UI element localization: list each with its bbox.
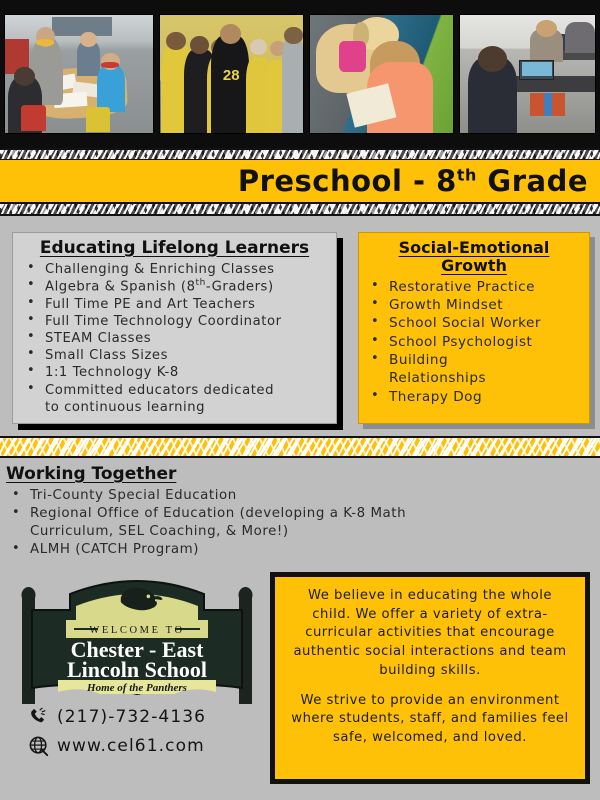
list-item: Committed educators dedicated [21,382,328,399]
algebra-pre: Algebra & Spanish (8 [45,280,196,295]
list-educating-items: Challenging & Enriching Classes Algebra … [21,261,328,416]
school-flyer: 28 P [0,0,600,800]
photo-classroom-small-group [4,14,154,134]
list-item: Full Time PE and Art Teachers [21,296,328,313]
page-title-main: Preschool - 8 [238,164,457,198]
contact-phone-number: (217)-732-4136 [57,707,206,727]
list-item-continuation: to continuous learning [21,399,328,416]
list-item: School Social Worker [365,314,583,332]
list-item: Building [365,351,583,369]
page-title: Preschool - 8th Grade [238,167,588,196]
list-item: ALMH (CATCH Program) [6,541,594,559]
card-title-social: Social-Emotional Growth [365,239,583,275]
contact-website-row[interactable]: www.cel61.com [28,735,268,757]
photo-students-laptops [459,14,596,134]
list-item: Algebra & Spanish (8th-Graders) [21,278,328,296]
list-item-continuation: Relationships [365,369,583,387]
list-item-continuation: Curriculum, SEL Coaching, & More!) [6,523,594,541]
contact-block: (217)-732-4136 www.cel61.com [28,706,268,764]
list-item: School Psychologist [365,333,583,351]
photo-strip: 28 [0,0,600,148]
section-title-working-together: Working Together [6,464,176,484]
sign-welcome-text: WELCOME TO [89,625,184,636]
school-sign: WELCOME TO Chester - East Lincoln School… [14,576,260,706]
globe-icon [28,735,50,757]
divider-scratch-under-title [0,202,600,216]
card-social-emotional-growth: Social-Emotional Growth Restorative Prac… [358,232,590,424]
photo-therapy-dog-reading [309,14,454,134]
photo-volleyball-team: 28 [159,14,304,134]
list-item: Therapy Dog [365,388,583,406]
contact-website-url: www.cel61.com [57,736,205,756]
mission-statement-box: We believe in educating the whole child.… [270,572,590,784]
card-title-social-line2: Growth [365,257,583,275]
divider-scratch-yellow [0,436,600,458]
list-working-together-items: Tri-County Special Education Regional Of… [6,487,594,559]
title-banner: Preschool - 8th Grade [0,160,600,202]
sign-finial-right [239,587,253,603]
page-title-superscript: th [457,165,477,184]
list-item: Regional Office of Education (developing… [6,505,594,523]
page-title-tail: Grade [477,164,588,198]
section-working-together: Working Together Tri-County Special Educ… [0,462,600,552]
contact-phone-row[interactable]: (217)-732-4136 [28,706,268,728]
phone-icon [28,706,50,728]
list-social-items: Restorative Practice Growth Mindset Scho… [365,278,583,406]
list-item: Full Time Technology Coordinator [21,313,328,330]
mission-paragraph-2: We strive to provide an environment wher… [287,692,573,748]
sign-name-line2: Lincoln School [67,657,207,682]
card-title-social-line1: Social-Emotional [365,239,583,257]
mission-paragraph-1: We believe in educating the whole child.… [287,587,573,681]
list-item: Growth Mindset [365,296,583,314]
card-title-educating: Educating Lifelong Learners [21,239,328,258]
school-sign-graphic: WELCOME TO Chester - East Lincoln School… [14,576,260,706]
sign-tagline: Home of the Panthers [86,682,187,694]
algebra-superscript: th [196,278,206,288]
list-item: Small Class Sizes [21,347,328,364]
sign-finial-left [22,587,36,603]
algebra-post: -Graders) [206,280,274,295]
card-educating-lifelong-learners: Educating Lifelong Learners Challenging … [12,232,337,424]
list-item: Challenging & Enriching Classes [21,261,328,278]
list-item: Tri-County Special Education [6,487,594,505]
list-item: 1:1 Technology K-8 [21,364,328,381]
list-item: Restorative Practice [365,278,583,296]
list-item: STEAM Classes [21,330,328,347]
